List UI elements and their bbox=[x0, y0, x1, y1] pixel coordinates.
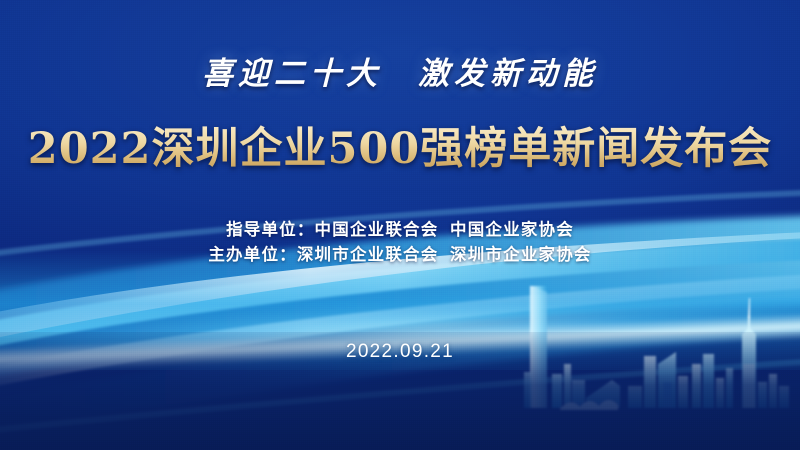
guiding-unit-line: 指导单位：中国企业联合会 中国企业家协会 bbox=[0, 218, 800, 243]
slogan-headline: 喜迎二十大 激发新动能 bbox=[0, 48, 800, 93]
poster-canvas: 喜迎二十大 激发新动能 2022深圳企业500强榜单新闻发布会 指导单位：中国企… bbox=[0, 0, 800, 450]
hosting-unit-line: 主办单位：深圳市企业联合会 深圳市企业家协会 bbox=[0, 243, 800, 268]
organizer-block: 指导单位：中国企业联合会 中国企业家协会 主办单位：深圳市企业联合会 深圳市企业… bbox=[0, 218, 800, 268]
text-layer: 喜迎二十大 激发新动能 2022深圳企业500强榜单新闻发布会 指导单位：中国企… bbox=[0, 0, 800, 450]
event-date: 2022.09.21 bbox=[0, 341, 800, 363]
page-title: 2022深圳企业500强榜单新闻发布会 bbox=[0, 114, 800, 176]
